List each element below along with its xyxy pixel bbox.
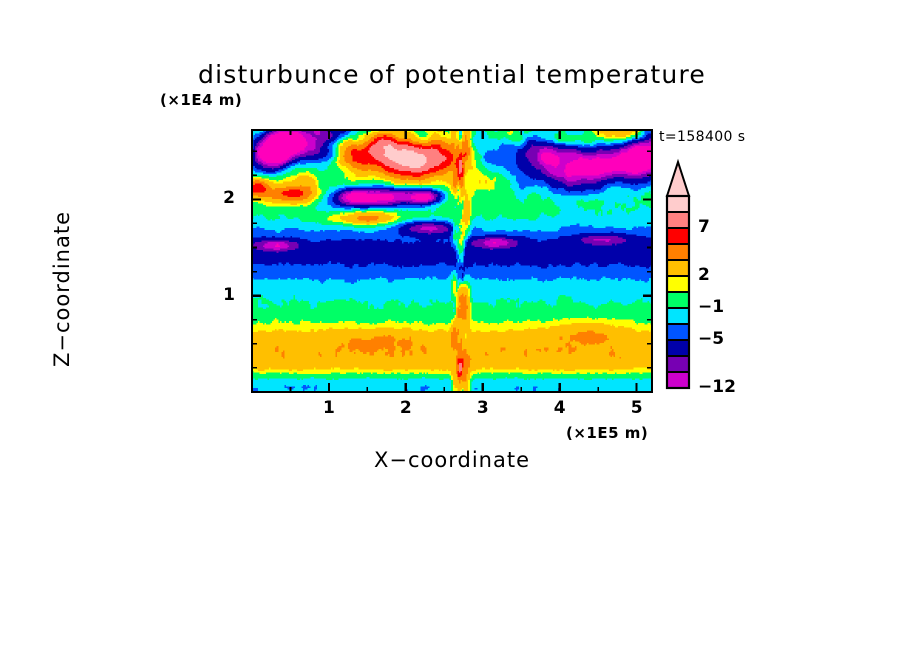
contour-field xyxy=(252,128,654,392)
colorbar-tick-label: −5 xyxy=(698,329,724,349)
colorbar-tick-label: 2 xyxy=(698,265,710,285)
contour-plot xyxy=(0,0,904,654)
x-tick-label: 4 xyxy=(544,398,576,418)
x-tick-label: 3 xyxy=(467,398,499,418)
figure-canvas: disturbunce of potential temperature (×1… xyxy=(0,0,904,654)
x-tick-label: 1 xyxy=(313,398,345,418)
colorbar xyxy=(667,162,689,388)
colorbar-tick-label: 7 xyxy=(698,217,710,237)
x-tick-label: 2 xyxy=(390,398,422,418)
y-tick-label: 1 xyxy=(216,285,242,305)
colorbar-tick-label: −1 xyxy=(698,297,724,317)
x-tick-label: 5 xyxy=(621,398,653,418)
colorbar-tick-label: −12 xyxy=(698,377,736,397)
y-tick-label: 2 xyxy=(216,188,242,208)
